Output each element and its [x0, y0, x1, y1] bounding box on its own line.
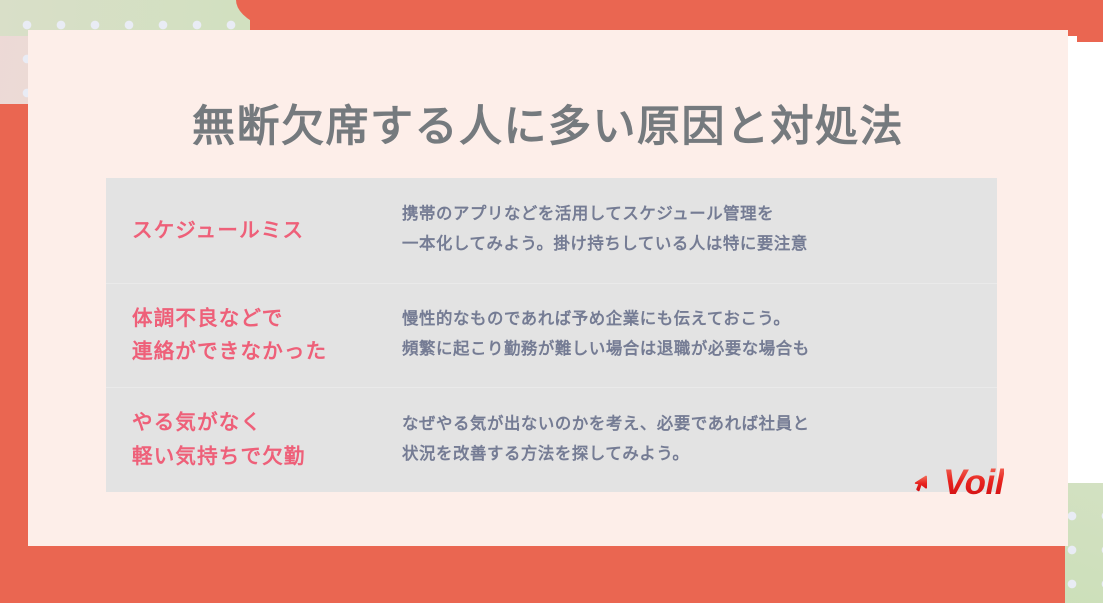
- content-card: 無断欠席する人に多い原因と対処法 スケジュールミス 携帯のアプリなどを活用してス…: [28, 30, 1068, 546]
- brand-logo[interactable]: Voil: [912, 465, 1004, 500]
- slide-canvas: 無断欠席する人に多い原因と対処法 スケジュールミス 携帯のアプリなどを活用してス…: [0, 0, 1103, 603]
- brand-name: Voil: [943, 465, 1004, 500]
- red-frame-left: [0, 104, 28, 603]
- row-description: 携帯のアプリなどを活用してスケジュール管理を 一本化してみよう。掛け持ちしている…: [402, 200, 977, 260]
- row-label: 体調不良などで 連絡ができなかった: [132, 302, 402, 368]
- table-row[interactable]: やる気がなく 軽い気持ちで欠勤 なぜやる気が出ないのかを考え、必要であれば社員と…: [106, 387, 997, 492]
- table-row[interactable]: スケジュールミス 携帯のアプリなどを活用してスケジュール管理を 一本化してみよう…: [106, 178, 997, 283]
- row-label: やる気がなく 軽い気持ちで欠勤: [132, 406, 402, 472]
- row-description: なぜやる気が出ないのかを考え、必要であれば社員と 状況を改善する方法を探してみよ…: [402, 410, 977, 470]
- page-title: 無断欠席する人に多い原因と対処法: [28, 92, 1068, 154]
- causes-table: スケジュールミス 携帯のアプリなどを活用してスケジュール管理を 一本化してみよう…: [106, 178, 997, 492]
- row-description: 慢性的なものであれば予め企業にも伝えておこう。 頻繁に起こり勤務が難しい場合は退…: [402, 305, 977, 365]
- megaphone-icon: [912, 471, 936, 495]
- table-row[interactable]: 体調不良などで 連絡ができなかった 慢性的なものであれば予め企業にも伝えておこう…: [106, 283, 997, 388]
- red-frame-right: [1077, 0, 1103, 42]
- row-label: スケジュールミス: [132, 214, 402, 247]
